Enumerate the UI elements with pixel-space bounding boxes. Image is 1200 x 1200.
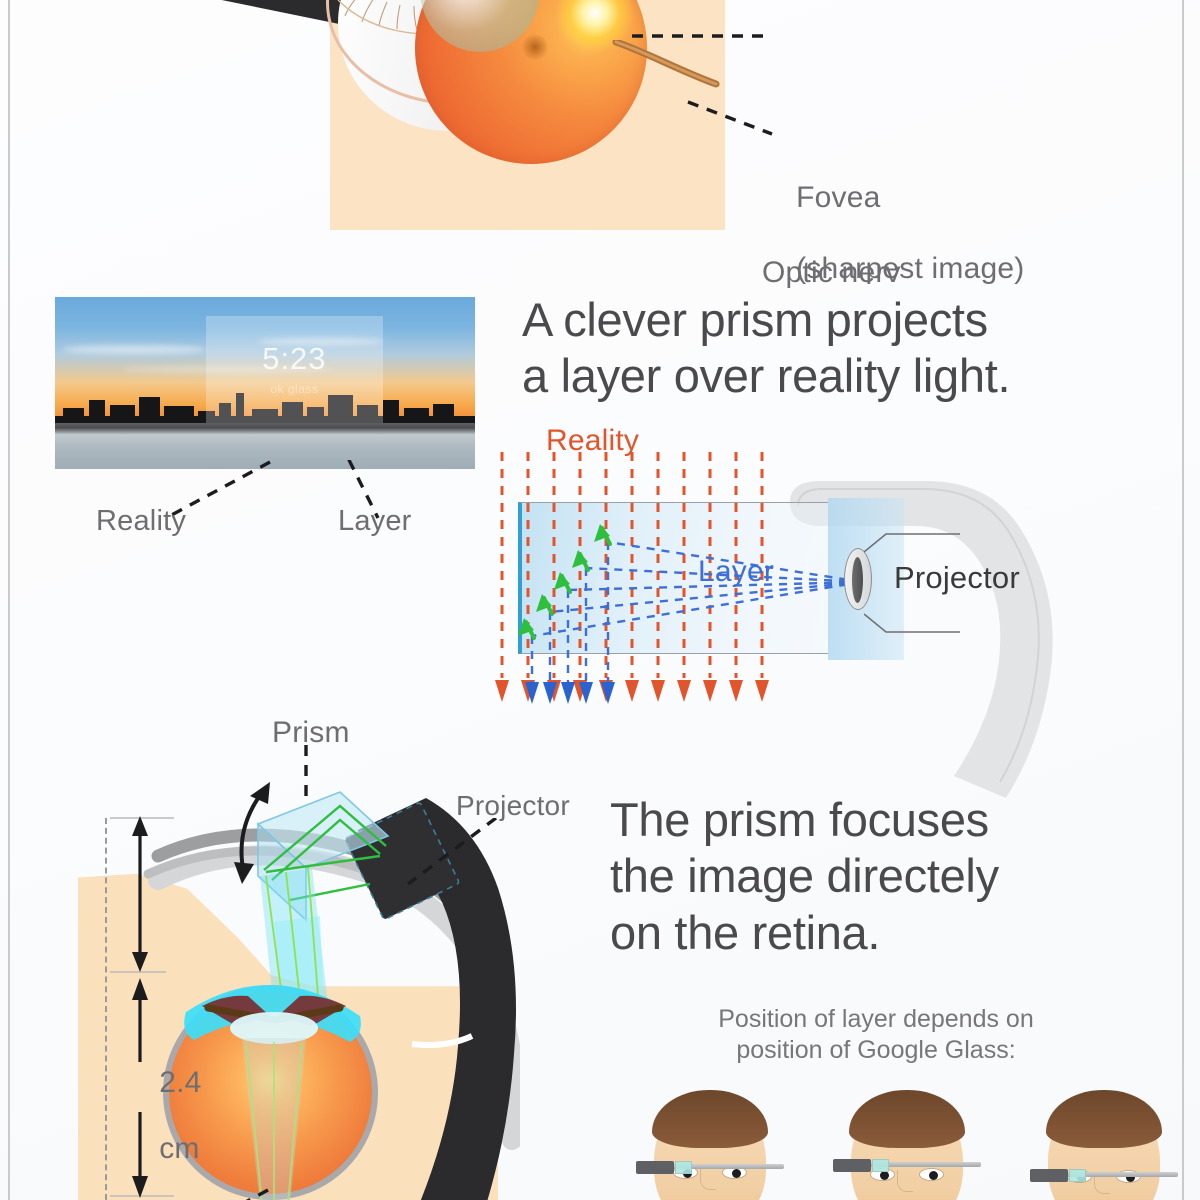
sunset-cityscape-photo: 5:23 ok glass [55,297,475,469]
head-illustration-high [1024,1090,1184,1200]
dimension-value: 2.4 cm [108,1033,172,1198]
glass-prism [675,1161,692,1174]
hair [849,1090,965,1148]
infographic-page: Fovea (sharpest image) Optic nerv [0,0,1200,1200]
glass-prism [872,1159,889,1172]
label-wg-projector: Projector [894,560,1020,596]
label-optic-nerve: Optic nerv [762,256,901,290]
google-glass-device [636,1156,784,1176]
google-glass-device [1030,1164,1178,1184]
waveguide-diagram [490,420,1190,780]
label-wg-reality: Reality [546,424,639,458]
caption-layer-position: Position of layer depends on position of… [660,1004,1092,1065]
label-prism-projector: Projector [456,790,570,822]
headline-prism-focuses: The prism focuses the image directely on… [610,792,1070,961]
dimension-guide-line [105,818,107,1200]
leader-line-fovea [630,0,790,150]
label-photo-layer: Layer [338,505,412,538]
leader-line-prism [296,745,316,805]
glass-camera-pod [636,1161,674,1174]
head-position-illustrations [630,1090,1190,1200]
head-illustration-middle [827,1090,987,1200]
glass-layer-overlay: 5:23 ok glass [206,316,382,423]
reality-layer-photo: 5:23 ok glass [55,297,475,469]
glass-prism [1069,1169,1086,1182]
label-prism: Prism [272,716,350,750]
label-photo-reality: Reality [96,505,186,538]
layer-subtitle-text: ok glass [206,382,382,396]
glass-camera-pod [1030,1169,1068,1182]
eye-anatomy-diagram [0,0,760,230]
head-illustration-low [630,1090,790,1200]
rotation-arrow-icon [212,778,282,886]
layer-time-text: 5:23 [206,341,382,377]
leader-line-projector [400,818,510,890]
label-wg-layer: Layer [698,555,774,589]
prism-retina-diagram: 2.4 cm [0,700,560,1200]
headline-prism-projects: A clever prism projects a layer over rea… [522,292,1082,405]
glass-camera-pod [833,1159,871,1172]
hair [1046,1090,1162,1148]
layer-rays [490,450,890,720]
google-glass-device [833,1154,981,1174]
hair [652,1090,768,1148]
